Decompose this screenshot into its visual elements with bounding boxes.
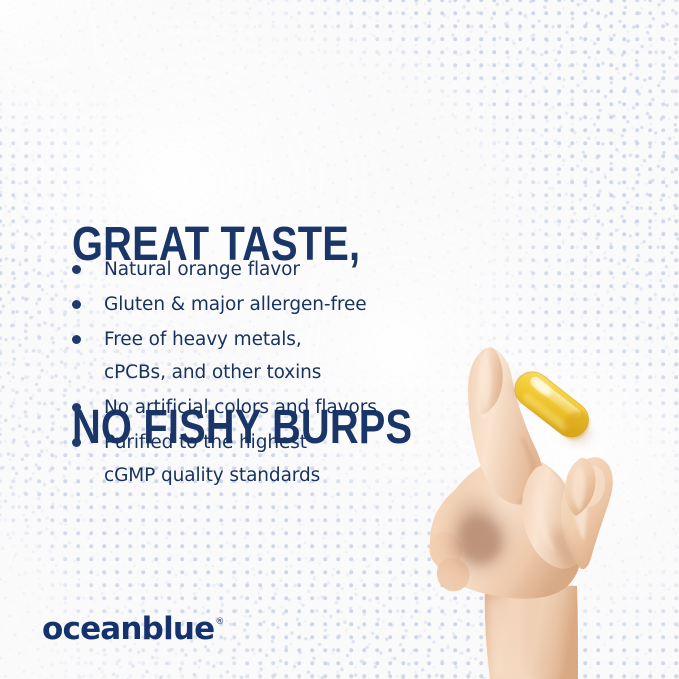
bullet-dot-icon xyxy=(72,438,81,447)
bullet-dot-icon xyxy=(72,265,81,274)
product-infographic: GREAT TASTE, NO FISHY BURPS Natural oran… xyxy=(0,0,679,679)
benefit-text: Natural orange flavor xyxy=(104,253,300,286)
brand-logo: oceanblue ® xyxy=(42,612,224,646)
registered-trademark-icon: ® xyxy=(215,618,224,627)
list-item: Purified to the highest cGMP quality sta… xyxy=(72,426,472,492)
bullet-dot-icon xyxy=(72,300,81,309)
bullet-dot-icon xyxy=(72,403,81,412)
benefit-text: Free of heavy metals, cPCBs, and other t… xyxy=(104,323,321,389)
list-item: Free of heavy metals, cPCBs, and other t… xyxy=(72,323,472,389)
benefit-text: No artificial colors and flavors xyxy=(104,391,377,424)
list-item: No artificial colors and flavors xyxy=(72,391,472,424)
list-item: Gluten & major allergen-free xyxy=(72,288,472,321)
benefit-text: Gluten & major allergen-free xyxy=(104,288,367,321)
brand-name: oceanblue xyxy=(42,612,214,646)
benefit-text: Purified to the highest cGMP quality sta… xyxy=(104,426,320,492)
benefits-list: Natural orange flavor Gluten & major all… xyxy=(72,253,472,494)
list-item: Natural orange flavor xyxy=(72,253,472,286)
bullet-dot-icon xyxy=(72,335,81,344)
